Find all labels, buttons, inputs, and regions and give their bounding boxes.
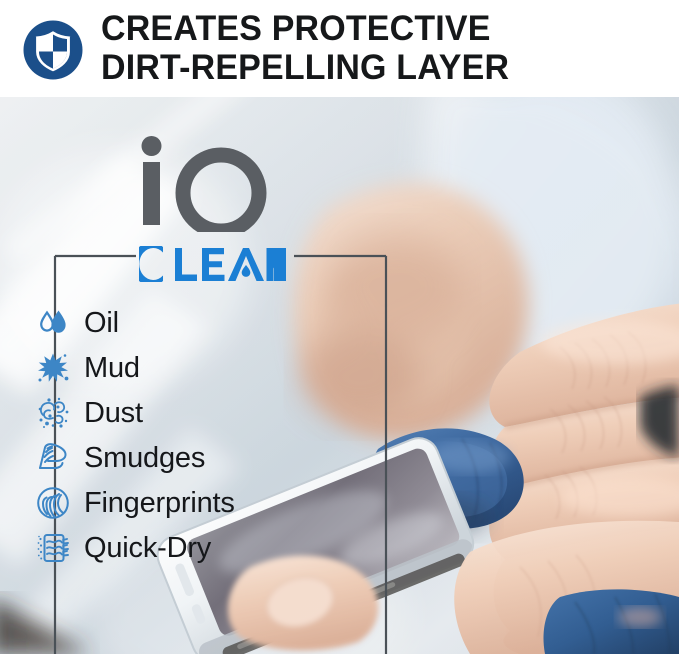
- list-item[interactable]: Oil: [36, 300, 296, 345]
- product-feature-graphic: CREATES PROTECTIVE DIRT-REPELLING LAYER: [0, 0, 679, 654]
- feature-label: Oil: [84, 307, 119, 339]
- list-item[interactable]: Smudges: [36, 435, 296, 480]
- brand-logo-clean: [139, 246, 287, 282]
- header-title-line1: CREATES PROTECTIVE: [101, 9, 509, 48]
- fingerprint-icon: [36, 486, 70, 520]
- header-title-line2: DIRT-REPELLING LAYER: [101, 48, 509, 87]
- mud-splat-icon: [36, 351, 70, 385]
- oil-droplets-icon: [36, 306, 70, 340]
- shield-icon: [22, 19, 84, 81]
- list-item[interactable]: Quick-Dry: [36, 525, 296, 570]
- feature-label: Mud: [84, 352, 140, 384]
- feature-label: Smudges: [84, 442, 205, 474]
- dust-particles-icon: [36, 396, 70, 430]
- feature-label: Quick-Dry: [84, 532, 211, 564]
- feature-label: Dust: [84, 397, 143, 429]
- feature-list: Oil Mud: [36, 300, 296, 570]
- header-banner: CREATES PROTECTIVE DIRT-REPELLING LAYER: [0, 0, 679, 97]
- list-item[interactable]: Fingerprints: [36, 480, 296, 525]
- list-item[interactable]: Dust: [36, 390, 296, 435]
- brand-logo-io: [139, 136, 269, 232]
- list-item[interactable]: Mud: [36, 345, 296, 390]
- header-title-block: CREATES PROTECTIVE DIRT-REPELLING LAYER: [101, 9, 522, 87]
- feature-label: Fingerprints: [84, 487, 235, 519]
- smudge-smear-icon: [36, 441, 70, 475]
- quick-dry-airflow-icon: [36, 531, 70, 565]
